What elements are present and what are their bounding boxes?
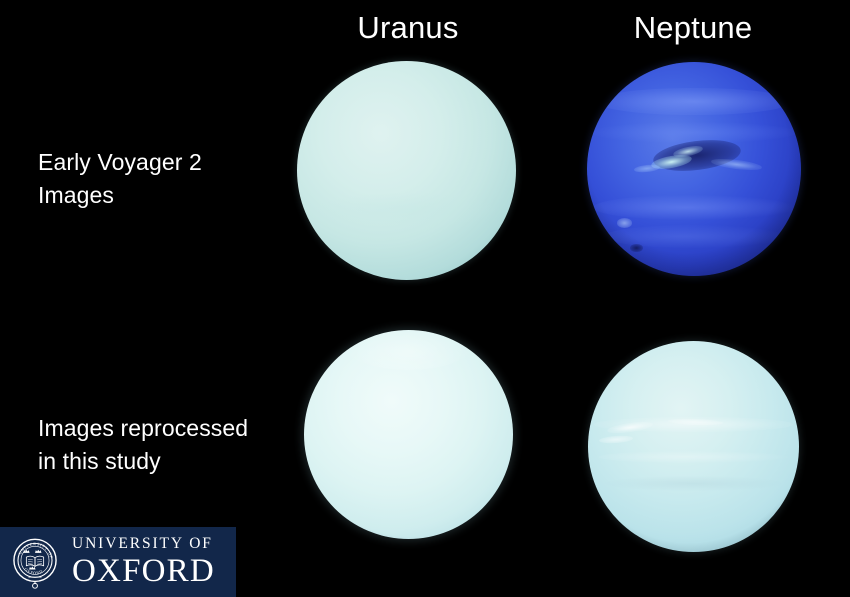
neptune-voyager-south-band [593,195,794,221]
planet-image-neptune-reprocessed [588,341,799,552]
planet-image-neptune-voyager [587,62,801,276]
uranus-voyager-band [315,192,499,227]
neptune-voyager-disc [587,62,801,276]
oxford-wordmark-line1: UNIVERSITY OF [72,536,215,552]
neptune-reprocessed-limb-darkening [588,341,799,552]
neptune-voyager-limb-darkening [587,62,801,276]
neptune-reprocessed-streak-west [607,420,654,436]
neptune-equatorial-streak [711,157,763,172]
oxford-wordmark-line2: OXFORD [72,555,215,588]
svg-text:OXFORD: OXFORD [23,566,43,575]
row-label-early-voyager: Early Voyager 2 Images [38,146,288,212]
uranus-reprocessed-disc [304,330,513,539]
neptune-bright-companion-cloud [650,153,692,172]
uranus-voyager-disc [297,61,516,280]
planet-image-uranus-reprocessed [304,330,513,539]
neptune-reprocessed-band-3 [605,476,782,491]
neptune-cirrus-cloud [672,143,703,158]
neptune-great-dark-spot [652,136,743,175]
row-label-reprocessed: Images reprocessed in this study [38,412,300,478]
planet-image-uranus-voyager [297,61,516,280]
neptune-reprocessed-disc [588,341,799,552]
column-title-neptune: Neptune [585,10,801,46]
row-label-line1: Early Voyager 2 [38,146,288,179]
oxford-wordmark: UNIVERSITY OF OXFORD [72,536,215,588]
neptune-voyager-north-band [596,88,793,116]
column-title-uranus: Uranus [300,10,516,46]
neptune-reprocessed-streak-lower [598,435,632,445]
neptune-south-bright-spot [617,218,632,228]
neptune-reprocessed-band-1 [594,417,792,432]
university-of-oxford-logo: UNIVERSITY·OF OXFORD [0,527,236,597]
row-label-line2: in this study [38,445,300,478]
uranus-reprocessed-violet-fringe [304,330,513,539]
row-label-line2: Images [38,179,288,212]
neptune-voyager-south-band-2 [604,225,784,249]
neptune-reprocessed-streak-center [668,418,723,426]
row-label-line1: Images reprocessed [38,412,300,445]
uranus-reprocessed-limb-darkening [304,330,513,539]
neptune-dark-spot-2 [630,244,643,253]
uranus-voyager-limb-darkening [297,61,516,280]
neptune-west-streak [634,163,660,173]
neptune-voyager-mid-band [591,122,796,143]
slide-canvas: Uranus Neptune Early Voyager 2 Images Im… [0,0,850,597]
neptune-reprocessed-band-2 [599,451,789,464]
oxford-crest-icon: UNIVERSITY·OF OXFORD [8,535,62,589]
uranus-reprocessed-highlight [346,330,471,370]
